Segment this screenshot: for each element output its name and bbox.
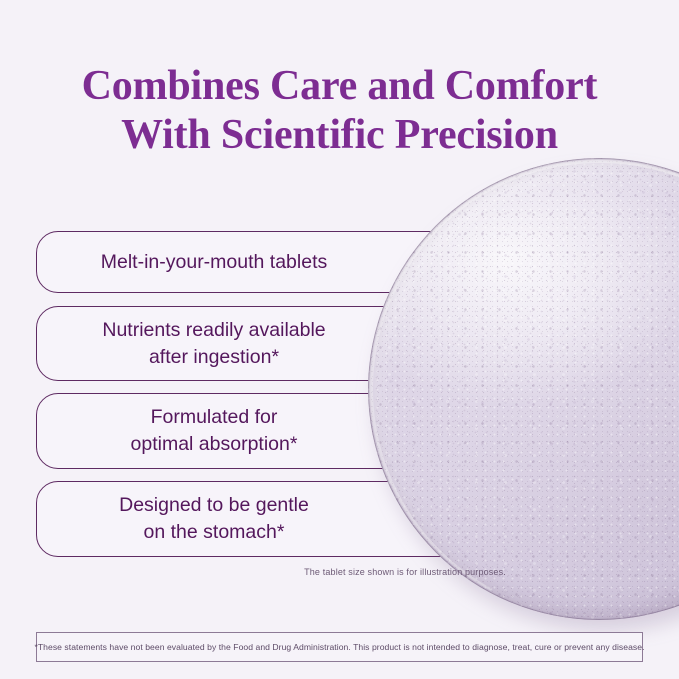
feature-list: Melt-in-your-mouth tablets Nutrients rea…: [36, 231, 506, 557]
feature-item-label: Melt-in-your-mouth tablets: [101, 249, 328, 276]
feature-item-label: Nutrients readily available after ingest…: [102, 317, 325, 371]
page-title-line-2: With Scientific Precision: [0, 111, 679, 160]
feature-item-label: Formulated for optimal absorption*: [131, 404, 298, 458]
page-title-line-1: Combines Care and Comfort: [0, 62, 679, 111]
tablet-caption: The tablet size shown is for illustratio…: [240, 566, 570, 578]
feature-item-gentle-on-the-stomach: Designed to be gentle on the stomach*: [36, 481, 506, 557]
disclaimer-box: *These statements have not been evaluate…: [36, 632, 643, 662]
feature-item-formulated-for-optimal-absorption: Formulated for optimal absorption*: [36, 393, 506, 469]
product-infographic: Combines Care and Comfort With Scientifi…: [0, 0, 679, 679]
feature-item-melt-in-your-mouth: Melt-in-your-mouth tablets: [36, 231, 506, 293]
feature-item-nutrients-readily-available: Nutrients readily available after ingest…: [36, 306, 506, 381]
page-title: Combines Care and Comfort With Scientifi…: [0, 62, 679, 160]
feature-item-label: Designed to be gentle on the stomach*: [119, 492, 309, 546]
disclaimer-text: *These statements have not been evaluate…: [34, 642, 644, 653]
